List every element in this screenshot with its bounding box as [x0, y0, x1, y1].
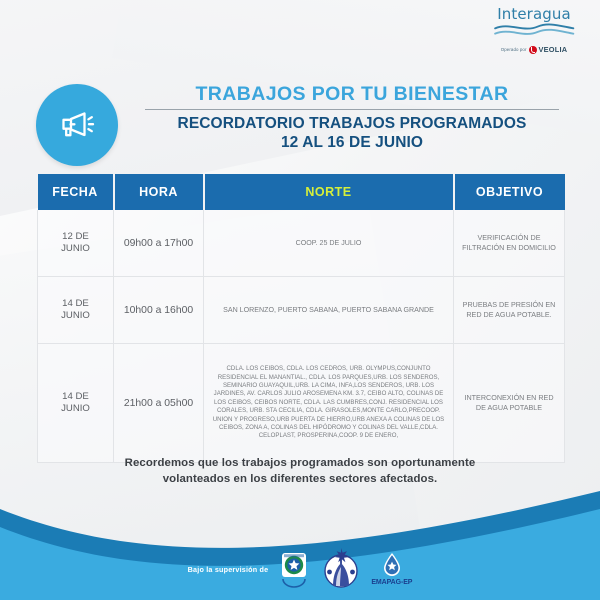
- column-header-fecha: FECHA: [38, 174, 114, 210]
- cell-norte: COOP. 25 DE JULIO: [204, 210, 454, 277]
- poster-header: TRABAJOS POR TU BIENESTAR RECORDATORIO T…: [36, 82, 564, 168]
- megaphone-icon: [54, 102, 100, 148]
- cell-objetivo: PRUEBAS DE PRESIÓN ENRED DE AGUA POTABLE…: [454, 277, 565, 344]
- table-row: 12 DEJUNIO 09h00 a 17h00 COOP. 25 DE JUL…: [38, 210, 565, 277]
- veolia-lockup: Operado por VEOLIA: [482, 45, 586, 54]
- brand-name: Interagua: [482, 7, 586, 22]
- cell-fecha: 14 DEJUNIO: [38, 277, 114, 344]
- table-row: 14 DEJUNIO 21h00 a 05h00 CDLA. LOS CEIBO…: [38, 344, 565, 463]
- megaphone-badge: [36, 84, 118, 166]
- cell-hora: 10h00 a 16h00: [114, 277, 204, 344]
- header-text-block: TRABAJOS POR TU BIENESTAR RECORDATORIO T…: [140, 82, 564, 152]
- column-header-norte: NORTE: [204, 174, 454, 210]
- cell-hora: 09h00 a 17h00: [114, 210, 204, 277]
- page-subtitle-line1: RECORDATORIO TRABAJOS PROGRAMADOS: [140, 115, 564, 134]
- page-subtitle-line2: 12 AL 16 DE JUNIO: [140, 134, 564, 153]
- cell-objetivo: VERIFICACIÓN DEFILTRACIÓN EN DOMICILIO: [454, 210, 565, 277]
- cell-fecha: 12 DEJUNIO: [38, 210, 114, 277]
- poster-canvas: Interagua Operado por VEOLIA: [0, 0, 600, 600]
- cell-norte: SAN LORENZO, PUERTO SABANA, PUERTO SABAN…: [204, 277, 454, 344]
- page-title: TRABAJOS POR TU BIENESTAR: [140, 82, 564, 108]
- poster-footer: Bajo la supervisión de: [0, 528, 600, 600]
- emapag-label: EMAPAG-EP: [371, 579, 412, 586]
- municipio-guayaquil-logo: [277, 550, 311, 588]
- wave-mark-icon: [488, 23, 580, 39]
- supervision-label: Bajo la supervisión de: [188, 565, 269, 574]
- column-header-hora: HORA: [114, 174, 204, 210]
- veolia-mark-icon: [529, 46, 537, 54]
- water-drop-icon: [381, 552, 403, 578]
- schedule-table: FECHA HORA NORTE OBJETIVO 12 DEJUNIO 09h…: [37, 174, 565, 463]
- title-divider: [145, 109, 559, 110]
- emapag-ep-logo: EMAPAG-EP: [371, 552, 412, 586]
- operated-by-label: Operado por: [501, 47, 527, 52]
- table-header-row: FECHA HORA NORTE OBJETIVO: [38, 174, 565, 210]
- cell-objetivo: INTERCONEXIÓN EN REDDE AGUA POTABLE: [454, 344, 565, 463]
- guayaquil-city-logo: [320, 546, 362, 592]
- table-row: 14 DEJUNIO 10h00 a 16h00 SAN LORENZO, PU…: [38, 277, 565, 344]
- cell-norte: CDLA. LOS CEIBOS, CDLA. LOS CEDROS, URB.…: [204, 344, 454, 463]
- cell-hora: 21h00 a 05h00: [114, 344, 204, 463]
- column-header-objetivo: OBJETIVO: [454, 174, 565, 210]
- veolia-name: VEOLIA: [539, 45, 568, 54]
- cell-fecha: 14 DEJUNIO: [38, 344, 114, 463]
- interagua-logo: Interagua Operado por VEOLIA: [482, 7, 586, 54]
